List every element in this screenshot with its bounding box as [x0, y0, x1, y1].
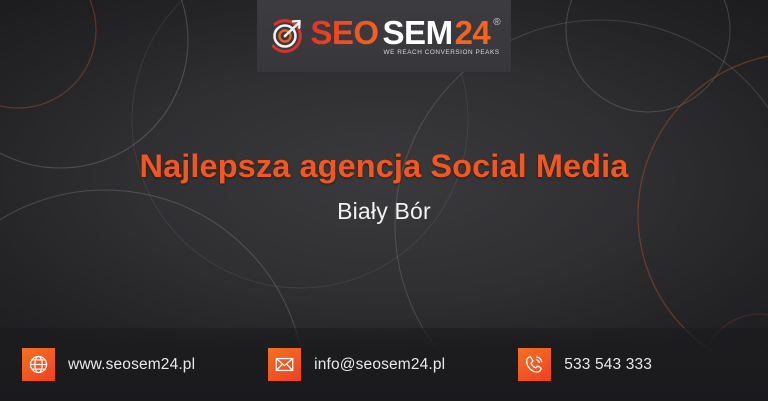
brand-tagline: WE REACH CONVERSION PEAKS [384, 50, 501, 56]
contact-item-phone[interactable]: 533 543 333 [518, 348, 652, 381]
hero-section: Najlepsza agencja Social Media Biały Bór [0, 148, 768, 225]
contact-item-website[interactable]: www.seosem24.pl [22, 348, 195, 381]
decorative-circle-orange-top-left [0, 0, 96, 108]
brand-name-line: SEM 24 ® [379, 16, 501, 49]
decorative-circle-top-right-small [566, 0, 730, 112]
contact-label-website: www.seosem24.pl [68, 356, 195, 374]
contact-label-email: info@seosem24.pl [314, 356, 445, 374]
contact-label-phone: 533 543 333 [564, 356, 652, 374]
contact-item-email[interactable]: info@seosem24.pl [268, 348, 445, 381]
page-title: Najlepsza agencja Social Media [0, 148, 768, 185]
brand-name-sem: SEM [383, 16, 453, 49]
brand-name-right-group: SEM 24 ® WE REACH CONVERSION PEAKS [379, 16, 501, 56]
promo-banner: SEO SEM 24 ® WE REACH CONVERSION PEAKS N… [0, 0, 768, 401]
decorative-circle-top-left [0, 0, 188, 168]
brand-name-seo: SEO [310, 16, 378, 49]
brand-wordmark: SEO SEM 24 ® WE REACH CONVERSION PEAKS [310, 16, 500, 56]
brand-logo[interactable]: SEO SEM 24 ® WE REACH CONVERSION PEAKS [257, 0, 511, 72]
contact-bar: www.seosem24.pl info@seosem24.pl [0, 328, 768, 401]
target-arrow-icon [267, 18, 303, 54]
brand-name-24: 24 [455, 16, 491, 49]
globe-icon [22, 348, 55, 381]
envelope-icon [268, 348, 301, 381]
page-subtitle: Biały Bór [0, 198, 768, 225]
registered-trademark-icon: ® [493, 18, 500, 28]
phone-icon [518, 348, 551, 381]
